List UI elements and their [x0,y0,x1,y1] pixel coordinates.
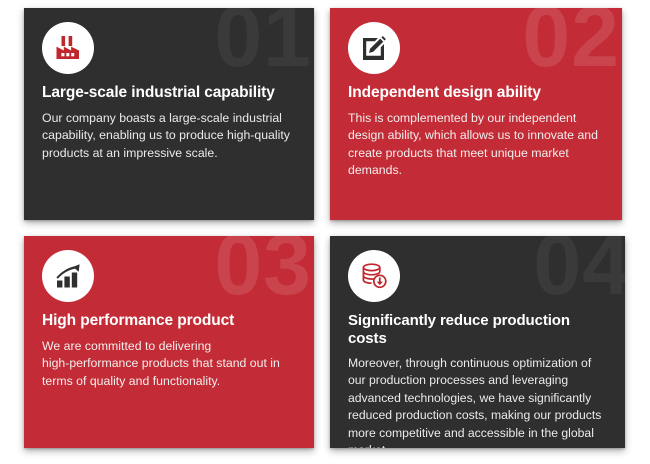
card-text-block: High performance product We are committe… [42,312,300,390]
feature-card-3[interactable]: 03 High performance product We are commi… [24,236,314,448]
card-text-block: Independent design ability This is compl… [348,84,608,179]
card-text-block: Significantly reduce production costs Mo… [348,312,611,448]
card-title: Significantly reduce production costs [348,312,611,348]
card-description: This is complemented by our independent … [348,110,608,180]
card-number-watermark: 02 [522,8,620,80]
card-description: Moreover, through continuous optimizatio… [348,355,611,448]
card-title: Large-scale industrial capability [42,84,300,103]
factory-icon [42,22,94,74]
database-download-icon [348,250,400,302]
card-description: We are committed to delivering high-perf… [42,338,300,390]
card-title: High performance product [42,312,300,331]
growth-bar-chart-arrow-icon [42,250,94,302]
card-number-watermark: 03 [214,236,312,308]
card-description: Our company boasts a large-scale industr… [42,110,300,162]
infographic-card-grid: 01 Large-scale industrial capability Our… [0,0,650,464]
card-text-block: Large-scale industrial capability Our co… [42,84,300,162]
feature-card-2[interactable]: 02 Independent design ability This is co… [330,8,622,220]
feature-card-4[interactable]: 04 Significantly reduce production costs… [330,236,625,448]
card-title: Independent design ability [348,84,608,103]
feature-card-1[interactable]: 01 Large-scale industrial capability Our… [24,8,314,220]
card-number-watermark: 01 [214,8,312,80]
edit-pencil-square-icon [348,22,400,74]
card-number-watermark: 04 [533,236,625,308]
